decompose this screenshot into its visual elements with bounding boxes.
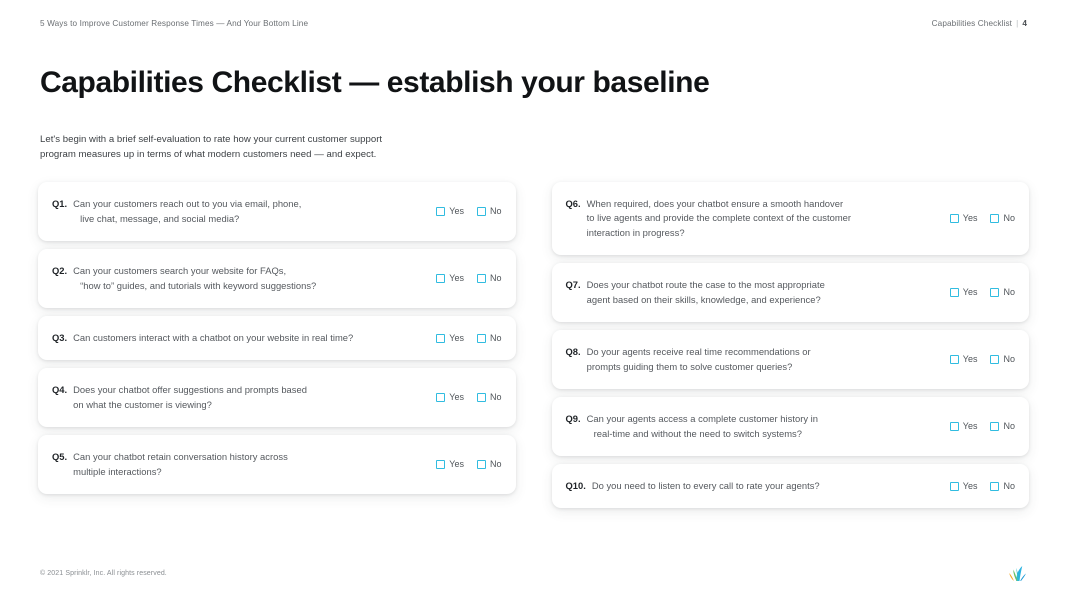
question-number: Q3.: [52, 331, 73, 346]
question-number: Q1.: [52, 197, 73, 212]
option-no[interactable]: No: [477, 460, 502, 469]
question-text-line: Can your agents access a complete custom…: [587, 412, 818, 427]
option-yes-label: Yes: [963, 482, 978, 491]
option-yes-label: Yes: [963, 422, 978, 431]
question-text-line: Does your chatbot route the case to the …: [587, 278, 825, 293]
option-yes-label: Yes: [963, 288, 978, 297]
header-section-label: Capabilities Checklist: [932, 19, 1012, 28]
checkbox-no-icon[interactable]: [990, 482, 999, 491]
option-yes-label: Yes: [449, 274, 464, 283]
header-section-info: Capabilities Checklist | 4: [932, 19, 1027, 28]
copyright-text: © 2021 Sprinklr, Inc. All rights reserve…: [40, 570, 167, 577]
question-number: Q8.: [566, 345, 587, 360]
checkbox-yes-icon[interactable]: [436, 207, 445, 216]
question-card: Q2.Can your customers search your websit…: [38, 249, 516, 308]
option-no[interactable]: No: [477, 274, 502, 283]
option-no-label: No: [490, 460, 502, 469]
option-yes[interactable]: Yes: [950, 288, 978, 297]
answer-options: YesNo: [432, 207, 501, 216]
question-text: Can customers interact with a chatbot on…: [73, 331, 353, 346]
checkbox-no-icon[interactable]: [477, 207, 486, 216]
answer-options: YesNo: [946, 422, 1015, 431]
checkbox-yes-icon[interactable]: [436, 274, 445, 283]
question-number: Q5.: [52, 450, 73, 465]
checkbox-no-icon[interactable]: [990, 288, 999, 297]
checkbox-no-icon[interactable]: [990, 355, 999, 364]
intro-paragraph: Let's begin with a brief self-evaluation…: [40, 132, 510, 162]
option-yes-label: Yes: [449, 393, 464, 402]
option-no-label: No: [490, 274, 502, 283]
sprinklr-logo-icon: [1005, 561, 1029, 585]
question-text: Can your customers search your website f…: [73, 264, 316, 293]
question-text-line: on what the customer is viewing?: [73, 398, 307, 413]
intro-line-1: Let's begin with a brief self-evaluation…: [40, 132, 510, 147]
question-card: Q8.Do your agents receive real time reco…: [552, 330, 1030, 389]
answer-options: YesNo: [432, 393, 501, 402]
option-yes[interactable]: Yes: [950, 482, 978, 491]
option-no-label: No: [1003, 214, 1015, 223]
checkbox-yes-icon[interactable]: [436, 393, 445, 402]
question-number: Q7.: [566, 278, 587, 293]
option-no[interactable]: No: [990, 422, 1015, 431]
question-text: Do you need to listen to every call to r…: [592, 479, 820, 494]
option-yes[interactable]: Yes: [436, 334, 464, 343]
question-number: Q2.: [52, 264, 73, 279]
option-no-label: No: [1003, 355, 1015, 364]
answer-options: YesNo: [432, 274, 501, 283]
option-yes[interactable]: Yes: [436, 274, 464, 283]
question-body: Q10.Do you need to listen to every call …: [566, 479, 946, 494]
option-yes-label: Yes: [963, 355, 978, 364]
question-card: Q5.Can your chatbot retain conversation …: [38, 435, 516, 494]
option-yes-label: Yes: [449, 334, 464, 343]
option-no[interactable]: No: [477, 334, 502, 343]
question-card: Q6.When required, does your chatbot ensu…: [552, 182, 1030, 255]
checkbox-yes-icon[interactable]: [436, 334, 445, 343]
question-text: Can your agents access a complete custom…: [587, 412, 818, 441]
question-card: Q1.Can your customers reach out to you v…: [38, 182, 516, 241]
question-text-line: Can your chatbot retain conversation his…: [73, 450, 288, 465]
question-body: Q8.Do your agents receive real time reco…: [566, 345, 946, 374]
checkbox-yes-icon[interactable]: [436, 460, 445, 469]
question-body: Q5.Can your chatbot retain conversation …: [52, 450, 432, 479]
option-yes-label: Yes: [963, 214, 978, 223]
checkbox-yes-icon[interactable]: [950, 214, 959, 223]
question-text-line: real-time and without the need to switch…: [587, 427, 818, 442]
checklist-column-left: Q1.Can your customers reach out to you v…: [38, 182, 516, 508]
question-number: Q9.: [566, 412, 587, 427]
question-text: Does your chatbot offer suggestions and …: [73, 383, 307, 412]
header-divider: |: [1016, 19, 1018, 28]
option-no[interactable]: No: [990, 355, 1015, 364]
checkbox-yes-icon[interactable]: [950, 422, 959, 431]
answer-options: YesNo: [432, 460, 501, 469]
answer-options: YesNo: [946, 288, 1015, 297]
question-text-line: Do you need to listen to every call to r…: [592, 479, 820, 494]
question-text: Do your agents receive real time recomme…: [587, 345, 811, 374]
intro-line-2: program measures up in terms of what mod…: [40, 147, 510, 162]
question-card: Q3.Can customers interact with a chatbot…: [38, 316, 516, 360]
question-text-line: prompts guiding them to solve customer q…: [587, 360, 811, 375]
option-no[interactable]: No: [990, 214, 1015, 223]
question-card: Q9.Can your agents access a complete cus…: [552, 397, 1030, 456]
question-text-line: live chat, message, and social media?: [73, 212, 301, 227]
option-yes-label: Yes: [449, 460, 464, 469]
option-no-label: No: [1003, 422, 1015, 431]
checkbox-no-icon[interactable]: [990, 214, 999, 223]
option-yes[interactable]: Yes: [436, 393, 464, 402]
page-header: 5 Ways to Improve Customer Response Time…: [0, 0, 1067, 46]
option-yes[interactable]: Yes: [436, 207, 464, 216]
question-number: Q10.: [566, 479, 592, 494]
question-text-line: Can your customers search your website f…: [73, 264, 316, 279]
question-body: Q1.Can your customers reach out to you v…: [52, 197, 432, 226]
question-body: Q7.Does your chatbot route the case to t…: [566, 278, 946, 307]
checkbox-no-icon[interactable]: [990, 422, 999, 431]
question-body: Q4.Does your chatbot offer suggestions a…: [52, 383, 432, 412]
checkbox-no-icon[interactable]: [477, 274, 486, 283]
page-title: Capabilities Checklist — establish your …: [40, 66, 709, 99]
option-no[interactable]: No: [990, 482, 1015, 491]
question-text-line: Can your customers reach out to you via …: [73, 197, 301, 212]
header-document-title: 5 Ways to Improve Customer Response Time…: [40, 19, 308, 28]
question-body: Q3.Can customers interact with a chatbot…: [52, 331, 432, 346]
question-number: Q6.: [566, 197, 587, 212]
option-no-label: No: [1003, 482, 1015, 491]
option-no[interactable]: No: [990, 288, 1015, 297]
question-text: When required, does your chatbot ensure …: [587, 197, 851, 241]
option-yes[interactable]: Yes: [436, 460, 464, 469]
option-no[interactable]: No: [477, 207, 502, 216]
checkbox-no-icon[interactable]: [477, 393, 486, 402]
answer-options: YesNo: [946, 482, 1015, 491]
option-yes[interactable]: Yes: [950, 214, 978, 223]
checkbox-no-icon[interactable]: [477, 460, 486, 469]
option-yes-label: Yes: [449, 207, 464, 216]
question-text: Can your customers reach out to you via …: [73, 197, 301, 226]
question-body: Q2.Can your customers search your websit…: [52, 264, 432, 293]
checkbox-yes-icon[interactable]: [950, 482, 959, 491]
question-card: Q7.Does your chatbot route the case to t…: [552, 263, 1030, 322]
question-text-line: Can customers interact with a chatbot on…: [73, 331, 353, 346]
option-no-label: No: [490, 334, 502, 343]
checklist-column-right: Q6.When required, does your chatbot ensu…: [552, 182, 1030, 508]
question-card: Q10.Do you need to listen to every call …: [552, 464, 1030, 508]
question-text-line: Do your agents receive real time recomme…: [587, 345, 811, 360]
checklist-columns: Q1.Can your customers reach out to you v…: [38, 182, 1029, 508]
checkbox-no-icon[interactable]: [477, 334, 486, 343]
option-yes[interactable]: Yes: [950, 422, 978, 431]
question-card: Q4.Does your chatbot offer suggestions a…: [38, 368, 516, 427]
question-text-line: agent based on their skills, knowledge, …: [587, 293, 825, 308]
option-no[interactable]: No: [477, 393, 502, 402]
question-body: Q9.Can your agents access a complete cus…: [566, 412, 946, 441]
question-body: Q6.When required, does your chatbot ensu…: [566, 197, 946, 241]
option-yes[interactable]: Yes: [950, 355, 978, 364]
question-text-line: When required, does your chatbot ensure …: [587, 197, 851, 212]
question-text-line: to live agents and provide the complete …: [587, 211, 851, 226]
question-text-line: “how to” guides, and tutorials with keyw…: [73, 279, 316, 294]
question-text-line: Does your chatbot offer suggestions and …: [73, 383, 307, 398]
option-no-label: No: [1003, 288, 1015, 297]
question-text: Does your chatbot route the case to the …: [587, 278, 825, 307]
checkbox-yes-icon[interactable]: [950, 288, 959, 297]
option-no-label: No: [490, 207, 502, 216]
answer-options: YesNo: [946, 355, 1015, 364]
question-text: Can your chatbot retain conversation his…: [73, 450, 288, 479]
answer-options: YesNo: [946, 214, 1015, 223]
answer-options: YesNo: [432, 334, 501, 343]
checkbox-yes-icon[interactable]: [950, 355, 959, 364]
header-page-number: 4: [1022, 19, 1027, 28]
question-text-line: interaction in progress?: [587, 226, 851, 241]
page-footer: © 2021 Sprinklr, Inc. All rights reserve…: [40, 560, 1029, 586]
option-no-label: No: [490, 393, 502, 402]
question-text-line: multiple interactions?: [73, 465, 288, 480]
question-number: Q4.: [52, 383, 73, 398]
